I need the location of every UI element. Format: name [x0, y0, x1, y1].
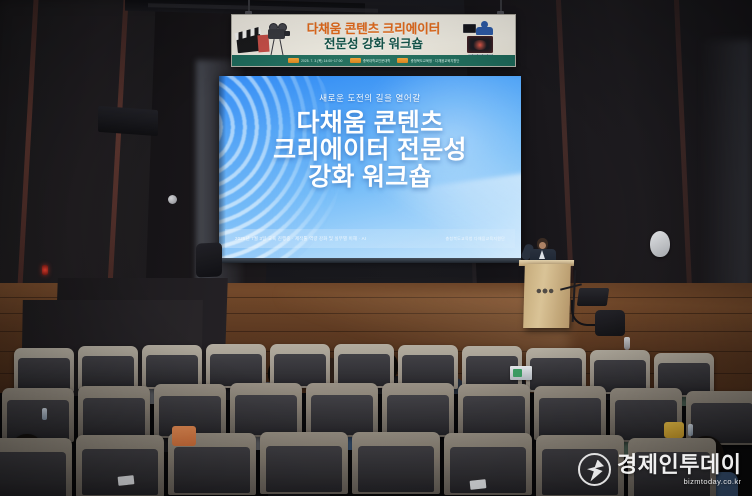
audience-bag [172, 426, 196, 446]
overhead-banner: 다채움 콘텐츠 크리에이터 전문성 강화 워크숍 2025. 7. 3.(목) … [231, 14, 516, 67]
lectern-emblem-icon [534, 286, 556, 296]
auditorium-seat [78, 346, 138, 390]
projection-screen: 새로운 도전의 길을 열어갈 다채움 콘텐츠 크리에이터 전문성 강화 워크숍 … [219, 76, 521, 260]
auditorium-seat [0, 438, 72, 496]
photograph: 새로운 도전의 길을 열어갈 다채움 콘텐츠 크리에이터 전문성 강화 워크숍 … [0, 0, 752, 496]
screen-title-line1: 다채움 콘텐츠 [296, 110, 443, 137]
auditorium-seat [628, 438, 716, 496]
auditorium-seat [458, 384, 530, 438]
handout-papers [118, 475, 135, 486]
banner-title-block: 다채움 콘텐츠 크리에이터 전문성 강화 워크숍 [284, 22, 464, 52]
banner-chip-1: 충북대학교인문대학 [350, 58, 391, 63]
auditorium-seat [534, 386, 606, 440]
wall-mounted-speaker-icon [650, 231, 670, 257]
banner-footer-bar: 2025. 7. 3.(목) 14:00~17:00 충북대학교인문대학 충청북… [232, 55, 515, 66]
ceiling-truss-bracket [98, 106, 158, 136]
auditorium-seat [14, 348, 74, 392]
screen-subtitle: 새로운 도전의 길을 열어갈 [319, 92, 421, 104]
auditorium-seat [76, 435, 164, 496]
audience-area [0, 330, 752, 496]
auditorium-seat [270, 344, 330, 388]
screen-footer-right: 충청북도교육청 다채움교육지원단 [445, 236, 505, 242]
auditorium-seat [334, 344, 394, 388]
auditorium-seat [230, 383, 302, 437]
screen-footer-bar: 2025년 7월 3일 교육 진행중 · 제작툴 역량 강화 및 실무별 이해 … [225, 229, 515, 248]
auditorium-seat [78, 386, 150, 440]
wall-sensor-dot [168, 195, 177, 204]
screen-footer-left: 2025년 7월 3일 교육 진행중 · 제작툴 역량 강화 및 실무별 이해 … [235, 236, 366, 242]
banner-chip-2: 충청북도교육청 · 다채움교육지원단 [397, 58, 459, 63]
banner-title-line1: 다채움 콘텐츠 크리에이터 [284, 22, 464, 37]
auditorium-seat [306, 383, 378, 437]
screen-bottom-bar [219, 258, 521, 263]
handout-papers [470, 479, 487, 490]
auditorium-seat [382, 383, 454, 437]
auditorium-seat [206, 344, 266, 388]
audience-laptop [510, 366, 532, 380]
auditorium-seat [352, 432, 440, 494]
banner-chip-0: 2025. 7. 3.(목) 14:00~17:00 [288, 58, 343, 63]
water-bottle [42, 408, 47, 420]
auditorium-seat [260, 432, 348, 494]
audience-bag [664, 422, 684, 438]
auditorium-seat [686, 391, 752, 445]
lectern [523, 264, 571, 328]
auditorium-seat [444, 433, 532, 495]
auditorium-seat [536, 435, 624, 496]
floor-bag-left [196, 242, 222, 277]
screen-title-line2: 크리에이터 전문성 [273, 137, 467, 164]
auditorium-seat [2, 388, 74, 442]
computer-workstation-icon [459, 20, 511, 60]
screen-title-line3: 강화 워크숍 [308, 164, 432, 191]
water-bottle [688, 424, 693, 436]
banner-title-line2: 전문성 강화 워크숍 [284, 37, 464, 52]
auditorium-seat [142, 345, 202, 389]
emergency-indicator-light [42, 265, 48, 275]
